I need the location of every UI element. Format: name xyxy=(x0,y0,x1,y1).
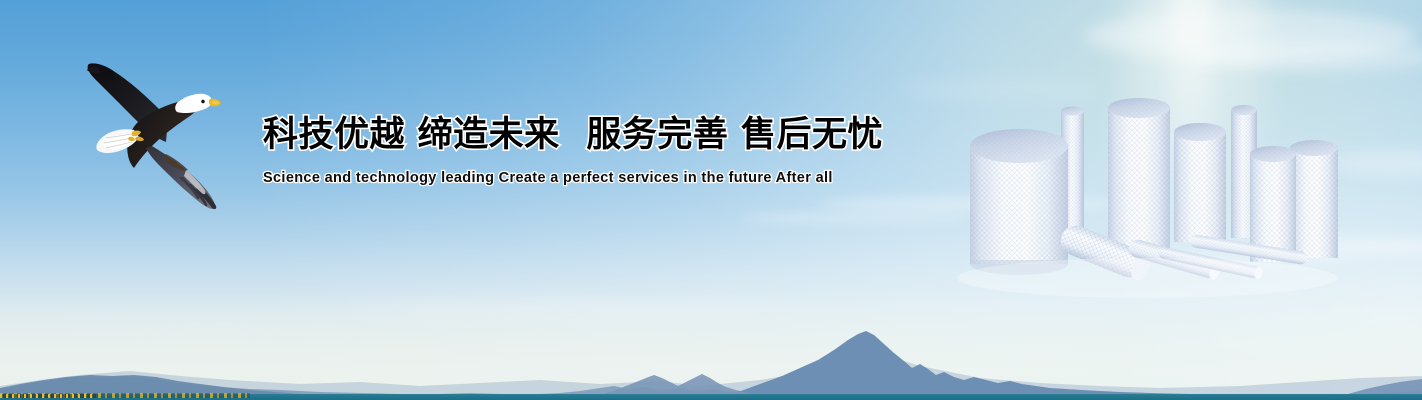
mountain-range-silhouette xyxy=(0,320,1422,400)
headline-phrase-2: 服务完善 售后无忧 xyxy=(586,110,883,160)
banner-text-block: 科技优越 缔造未来 服务完善 售后无忧 Science and technolo… xyxy=(263,110,883,186)
shore-lights-bright xyxy=(0,394,96,398)
hero-banner: 科技优越 缔造未来 服务完善 售后无忧 Science and technolo… xyxy=(0,0,1422,400)
headline-phrase-1: 科技优越 缔造未来 xyxy=(263,110,560,160)
headline-subtitle: Science and technology leading Create a … xyxy=(263,170,883,186)
headline-row: 科技优越 缔造未来 服务完善 售后无忧 xyxy=(263,110,883,160)
